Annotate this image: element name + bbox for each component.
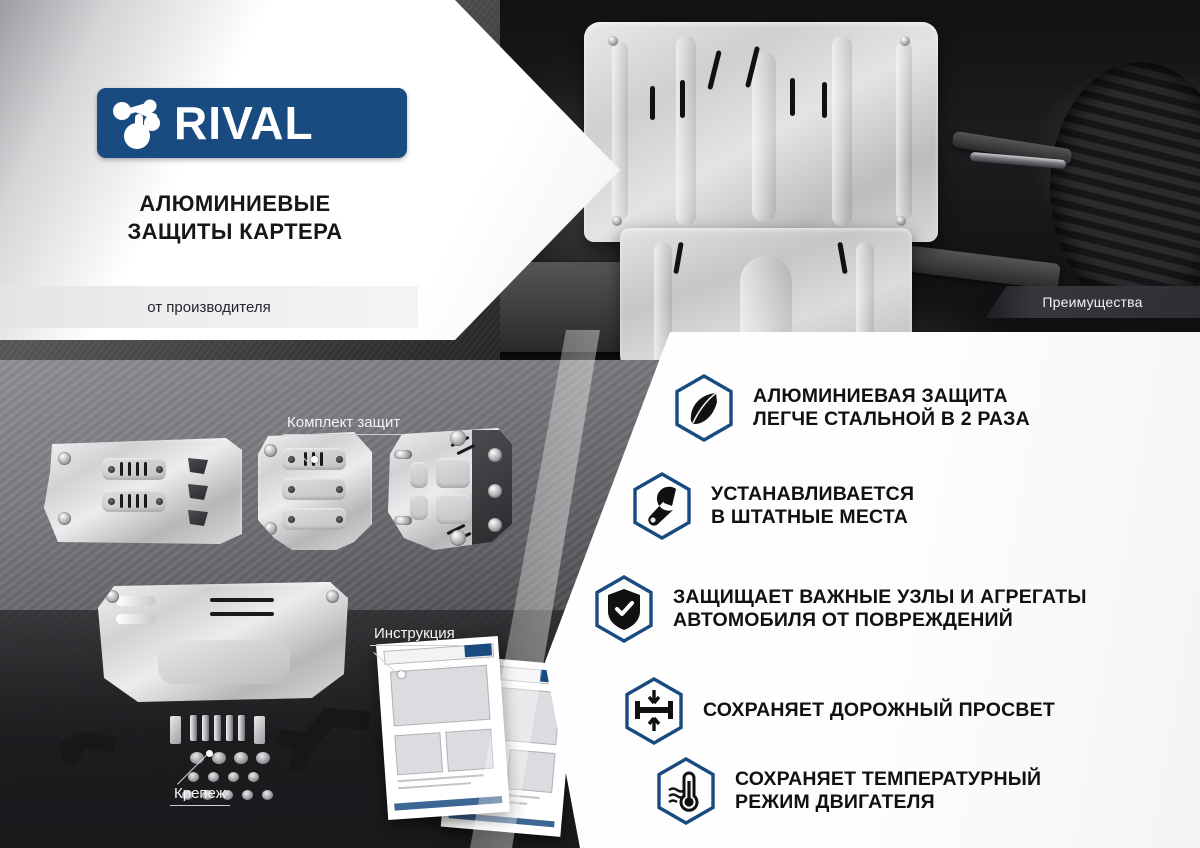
plate-bolt: [58, 512, 71, 525]
callout-instruction-dot: [398, 671, 405, 678]
plate-slot: [650, 86, 655, 120]
plate-rib: [116, 614, 156, 624]
plate-slot: [136, 462, 139, 476]
hardware-bolt: [238, 715, 245, 741]
sheet-figure: [390, 665, 491, 726]
header-inner: RIVAL АЛЮМИНИЕВЫЕ ЗАЩИТЫ КАРТЕРА от прои…: [0, 0, 470, 340]
feature-item-3: ЗАЩИЩАЕТ ВАЖНЫЕ УЗЛЫ И АГРЕГАТЫ АВТОМОБИ…: [593, 575, 1087, 643]
plate-bolt: [488, 518, 502, 532]
plate-rib: [832, 36, 852, 226]
plate-bolt: [326, 590, 339, 603]
plate-bolt: [336, 486, 343, 493]
features-list: АЛЮМИНИЕВАЯ ЗАЩИТА ЛЕГЧЕ СТАЛЬНОЙ В 2 РА…: [545, 332, 1200, 848]
skid-plate-c: [388, 428, 512, 550]
feature-label-5: СОХРАНЯЕТ ТЕМПЕРАТУРНЫЙ РЕЖИМ ДВИГАТЕЛЯ: [735, 768, 1041, 815]
hardware-nut: [242, 790, 253, 800]
rival-logo: RIVAL: [97, 88, 407, 158]
plate-bolt: [612, 216, 622, 226]
callout-instruction: Инструкция: [370, 625, 459, 646]
plate-bolt: [336, 516, 343, 523]
logo-wordmark: RIVAL: [174, 100, 314, 146]
plate-bolt: [288, 456, 295, 463]
callout-instruction-label: Инструкция: [370, 625, 459, 646]
page-title: АЛЮМИНИЕВЫЕ ЗАЩИТЫ КАРТЕРА: [0, 190, 470, 246]
plate-rib: [158, 640, 290, 684]
plate-slot: [210, 598, 274, 602]
plate-slot: [128, 494, 131, 508]
hardware-washer: [256, 752, 270, 764]
feature-label-3: ЗАЩИЩАЕТ ВАЖНЫЕ УЗЛЫ И АГРЕГАТЫ АВТОМОБИ…: [673, 586, 1087, 633]
plate-bolt: [336, 456, 343, 463]
callout-kit-label: Комплект защит: [283, 414, 404, 435]
plate-slot: [673, 242, 683, 274]
subtitle-strip: от производителя: [0, 286, 418, 328]
molecule-icon: [108, 94, 172, 152]
hardware-bolt: [202, 715, 209, 741]
feature-label-4: СОХРАНЯЕТ ДОРОЖНЫЙ ПРОСВЕТ: [703, 699, 1055, 722]
plate-pad: [436, 458, 470, 488]
promo-banner: Преимущества: [0, 0, 1200, 848]
sheet-text-line: [398, 782, 471, 789]
plate-slot: [837, 242, 847, 274]
plate-vent: [188, 458, 208, 474]
plate-rib: [116, 596, 156, 606]
plate-slot: [822, 82, 827, 118]
hardware-plate: [170, 716, 181, 744]
plate-pad: [410, 462, 428, 488]
plate-bolt: [450, 430, 466, 446]
plate-rib: [676, 36, 696, 226]
wrench-icon: [631, 472, 693, 540]
feature-item-4: СОХРАНЯЕТ ДОРОЖНЫЙ ПРОСВЕТ: [623, 677, 1055, 745]
plate-bolt: [156, 498, 163, 505]
ground-clearance-icon: [623, 677, 685, 745]
plate-slot: [210, 612, 274, 616]
callout-hardware: Крепеж: [170, 785, 230, 806]
plate-bolt: [608, 36, 618, 46]
plate-rib: [896, 42, 912, 220]
callout-hardware-dot: [206, 750, 213, 757]
hardware-nut: [188, 772, 199, 782]
plate-slot: [320, 452, 323, 466]
feature-label-1: АЛЮМИНИЕВАЯ ЗАЩИТА ЛЕГЧЕ СТАЛЬНОЙ В 2 РА…: [753, 385, 1030, 432]
plate-pad: [410, 494, 428, 520]
hardware-bolt: [190, 715, 197, 741]
skid-plate-b: [258, 432, 372, 550]
skid-plate-d: [98, 582, 348, 702]
hardware-bolt: [214, 715, 221, 741]
plate-bolt: [896, 216, 906, 226]
plate-rib: [612, 42, 628, 220]
advantages-tab-label: Преимущества: [1042, 294, 1142, 310]
plate-bolt: [488, 448, 502, 462]
installed-plate-upper: [584, 22, 938, 242]
plate-bolt: [394, 450, 412, 459]
plate-pad: [436, 494, 470, 524]
hardware-nut: [208, 772, 219, 782]
plate-bolt: [488, 484, 502, 498]
plate-slot: [707, 50, 722, 90]
plate-slot: [144, 494, 147, 508]
plate-rib: [752, 52, 776, 222]
skid-plate-a: [44, 438, 242, 544]
leaf-icon: [673, 374, 735, 442]
plate-bolt: [108, 498, 115, 505]
feature-item-5: СОХРАНЯЕТ ТЕМПЕРАТУРНЫЙ РЕЖИМ ДВИГАТЕЛЯ: [655, 757, 1041, 825]
feature-item-1: АЛЮМИНИЕВАЯ ЗАЩИТА ЛЕГЧЕ СТАЛЬНОЙ В 2 РА…: [673, 374, 1030, 442]
feature-item-2: УСТАНАВЛИВАЕТСЯ В ШТАТНЫЕ МЕСТА: [631, 472, 914, 540]
callout-kit: Комплект защит: [283, 414, 404, 435]
callout-kit-dot: [311, 456, 318, 463]
plate-bolt: [264, 444, 277, 457]
hardware-washer: [234, 752, 248, 764]
plate-bolt: [288, 486, 295, 493]
plate-bolt: [58, 452, 71, 465]
sheet-figure: [395, 732, 444, 776]
hardware-nut: [262, 790, 273, 800]
plate-bolt: [450, 530, 466, 546]
hardware-bolt: [226, 715, 233, 741]
plate-bolt: [156, 466, 163, 473]
plate-vent: [188, 484, 208, 500]
shield-check-icon: [593, 575, 655, 643]
subtitle-text: от производителя: [147, 299, 270, 316]
callout-hardware-label: Крепеж: [170, 785, 230, 806]
plate-bolt: [900, 36, 910, 46]
plate-bolt: [108, 466, 115, 473]
plate-slot: [128, 462, 131, 476]
plate-slot: [144, 462, 147, 476]
hardware-plate: [254, 716, 265, 744]
plate-bolt: [288, 516, 295, 523]
plate-slot: [136, 494, 139, 508]
plate-slot: [680, 80, 685, 118]
plate-slot: [790, 78, 795, 116]
plate-vent: [188, 510, 208, 526]
thermometer-icon: [655, 757, 717, 825]
advantages-tab: Преимущества: [985, 286, 1200, 318]
feature-label-2: УСТАНАВЛИВАЕТСЯ В ШТАТНЫЕ МЕСТА: [711, 483, 914, 530]
sheet-text-line: [398, 775, 483, 783]
features-panel: АЛЮМИНИЕВАЯ ЗАЩИТА ЛЕГЧЕ СТАЛЬНОЙ В 2 РА…: [545, 332, 1200, 848]
hardware-nut: [228, 772, 239, 782]
hardware-washer: [212, 752, 226, 764]
hardware-nut: [248, 772, 259, 782]
sheet-logo: [464, 643, 492, 657]
plate-bolt: [394, 516, 412, 525]
plate-slot: [120, 494, 123, 508]
plate-slot: [120, 462, 123, 476]
